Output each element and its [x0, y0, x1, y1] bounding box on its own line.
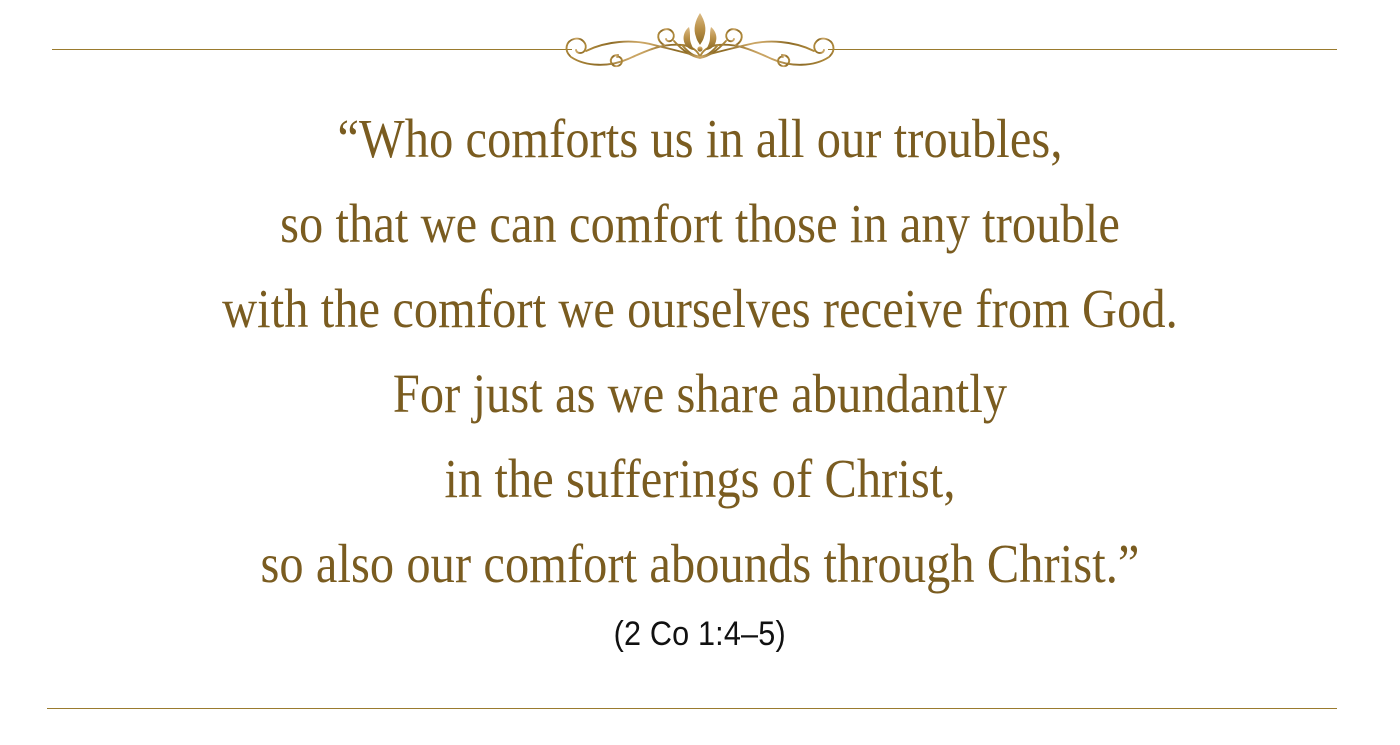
quote-line: so that we can comfort those in any trou… [84, 181, 1316, 266]
quote-line: in the sufferings of Christ, [84, 436, 1316, 521]
top-rule-left-segment [52, 49, 572, 50]
quote-text-block: “Who comforts us in all our troubles, so… [0, 96, 1400, 606]
bottom-divider-rule [47, 708, 1337, 709]
quote-line: For just as we share abundantly [84, 351, 1316, 436]
scripture-reference: (2 Co 1:4–5) [614, 612, 786, 656]
top-rule-right-segment [828, 49, 1337, 50]
filigree-flourish-ornament-icon [562, 11, 838, 73]
quote-line: with the comfort we ourselves receive fr… [84, 266, 1316, 351]
quote-line: “Who comforts us in all our troubles, [84, 96, 1316, 181]
top-divider [0, 0, 1400, 92]
scripture-quote-card: “Who comforts us in all our troubles, so… [0, 0, 1400, 745]
quote-line: so also our comfort abounds through Chri… [84, 521, 1316, 606]
attribution-wrap: (2 Co 1:4–5) [0, 612, 1400, 656]
